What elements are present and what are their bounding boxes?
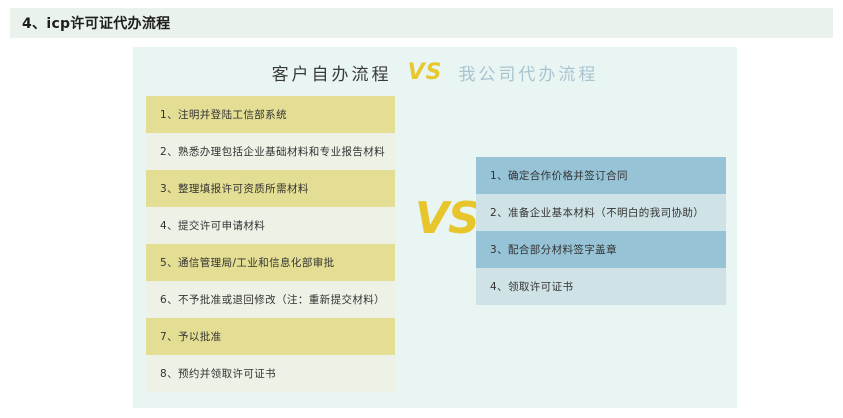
page-title: 4、icp许可证代办流程 — [10, 13, 170, 33]
list-item: 3、整理填报许可资质所需材料 — [146, 170, 395, 207]
list-item: 2、准备企业基本材料（不明白的我司协助） — [476, 194, 726, 231]
list-item: 8、预约并领取许可证书 — [146, 355, 395, 392]
list-item: 5、通信管理局/工业和信息化部审批 — [146, 244, 395, 281]
section-title-bar: 4、icp许可证代办流程 — [10, 8, 833, 38]
comparison-header: 客户自办流程 VS 我公司代办流程 — [133, 55, 737, 89]
list-item: 6、不予批准或退回修改（注：重新提交材料） — [146, 281, 395, 318]
list-item: 2、熟悉办理包括企业基础材料和专业报告材料 — [146, 133, 395, 170]
list-item: 1、确定合作价格并签订合同 — [476, 157, 726, 194]
header-vs-label: VS — [408, 60, 443, 85]
list-item: 7、予以批准 — [146, 318, 395, 355]
left-column-heading: 客户自办流程 — [272, 60, 392, 85]
customer-self-process-column: 1、注明并登陆工信部系统 2、熟悉办理包括企业基础材料和专业报告材料 3、整理填… — [146, 96, 395, 392]
list-item: 1、注明并登陆工信部系统 — [146, 96, 395, 133]
comparison-panel: 客户自办流程 VS 我公司代办流程 1、注明并登陆工信部系统 2、熟悉办理包括企… — [133, 47, 737, 408]
agency-process-column: 1、确定合作价格并签订合同 2、准备企业基本材料（不明白的我司协助） 3、配合部… — [476, 157, 726, 305]
list-item: 3、配合部分材料签字盖章 — [476, 231, 726, 268]
list-item: 4、领取许可证书 — [476, 268, 726, 305]
right-column-heading: 我公司代办流程 — [458, 60, 598, 85]
list-item: 4、提交许可申请材料 — [146, 207, 395, 244]
center-vs-label: VS — [415, 197, 477, 241]
